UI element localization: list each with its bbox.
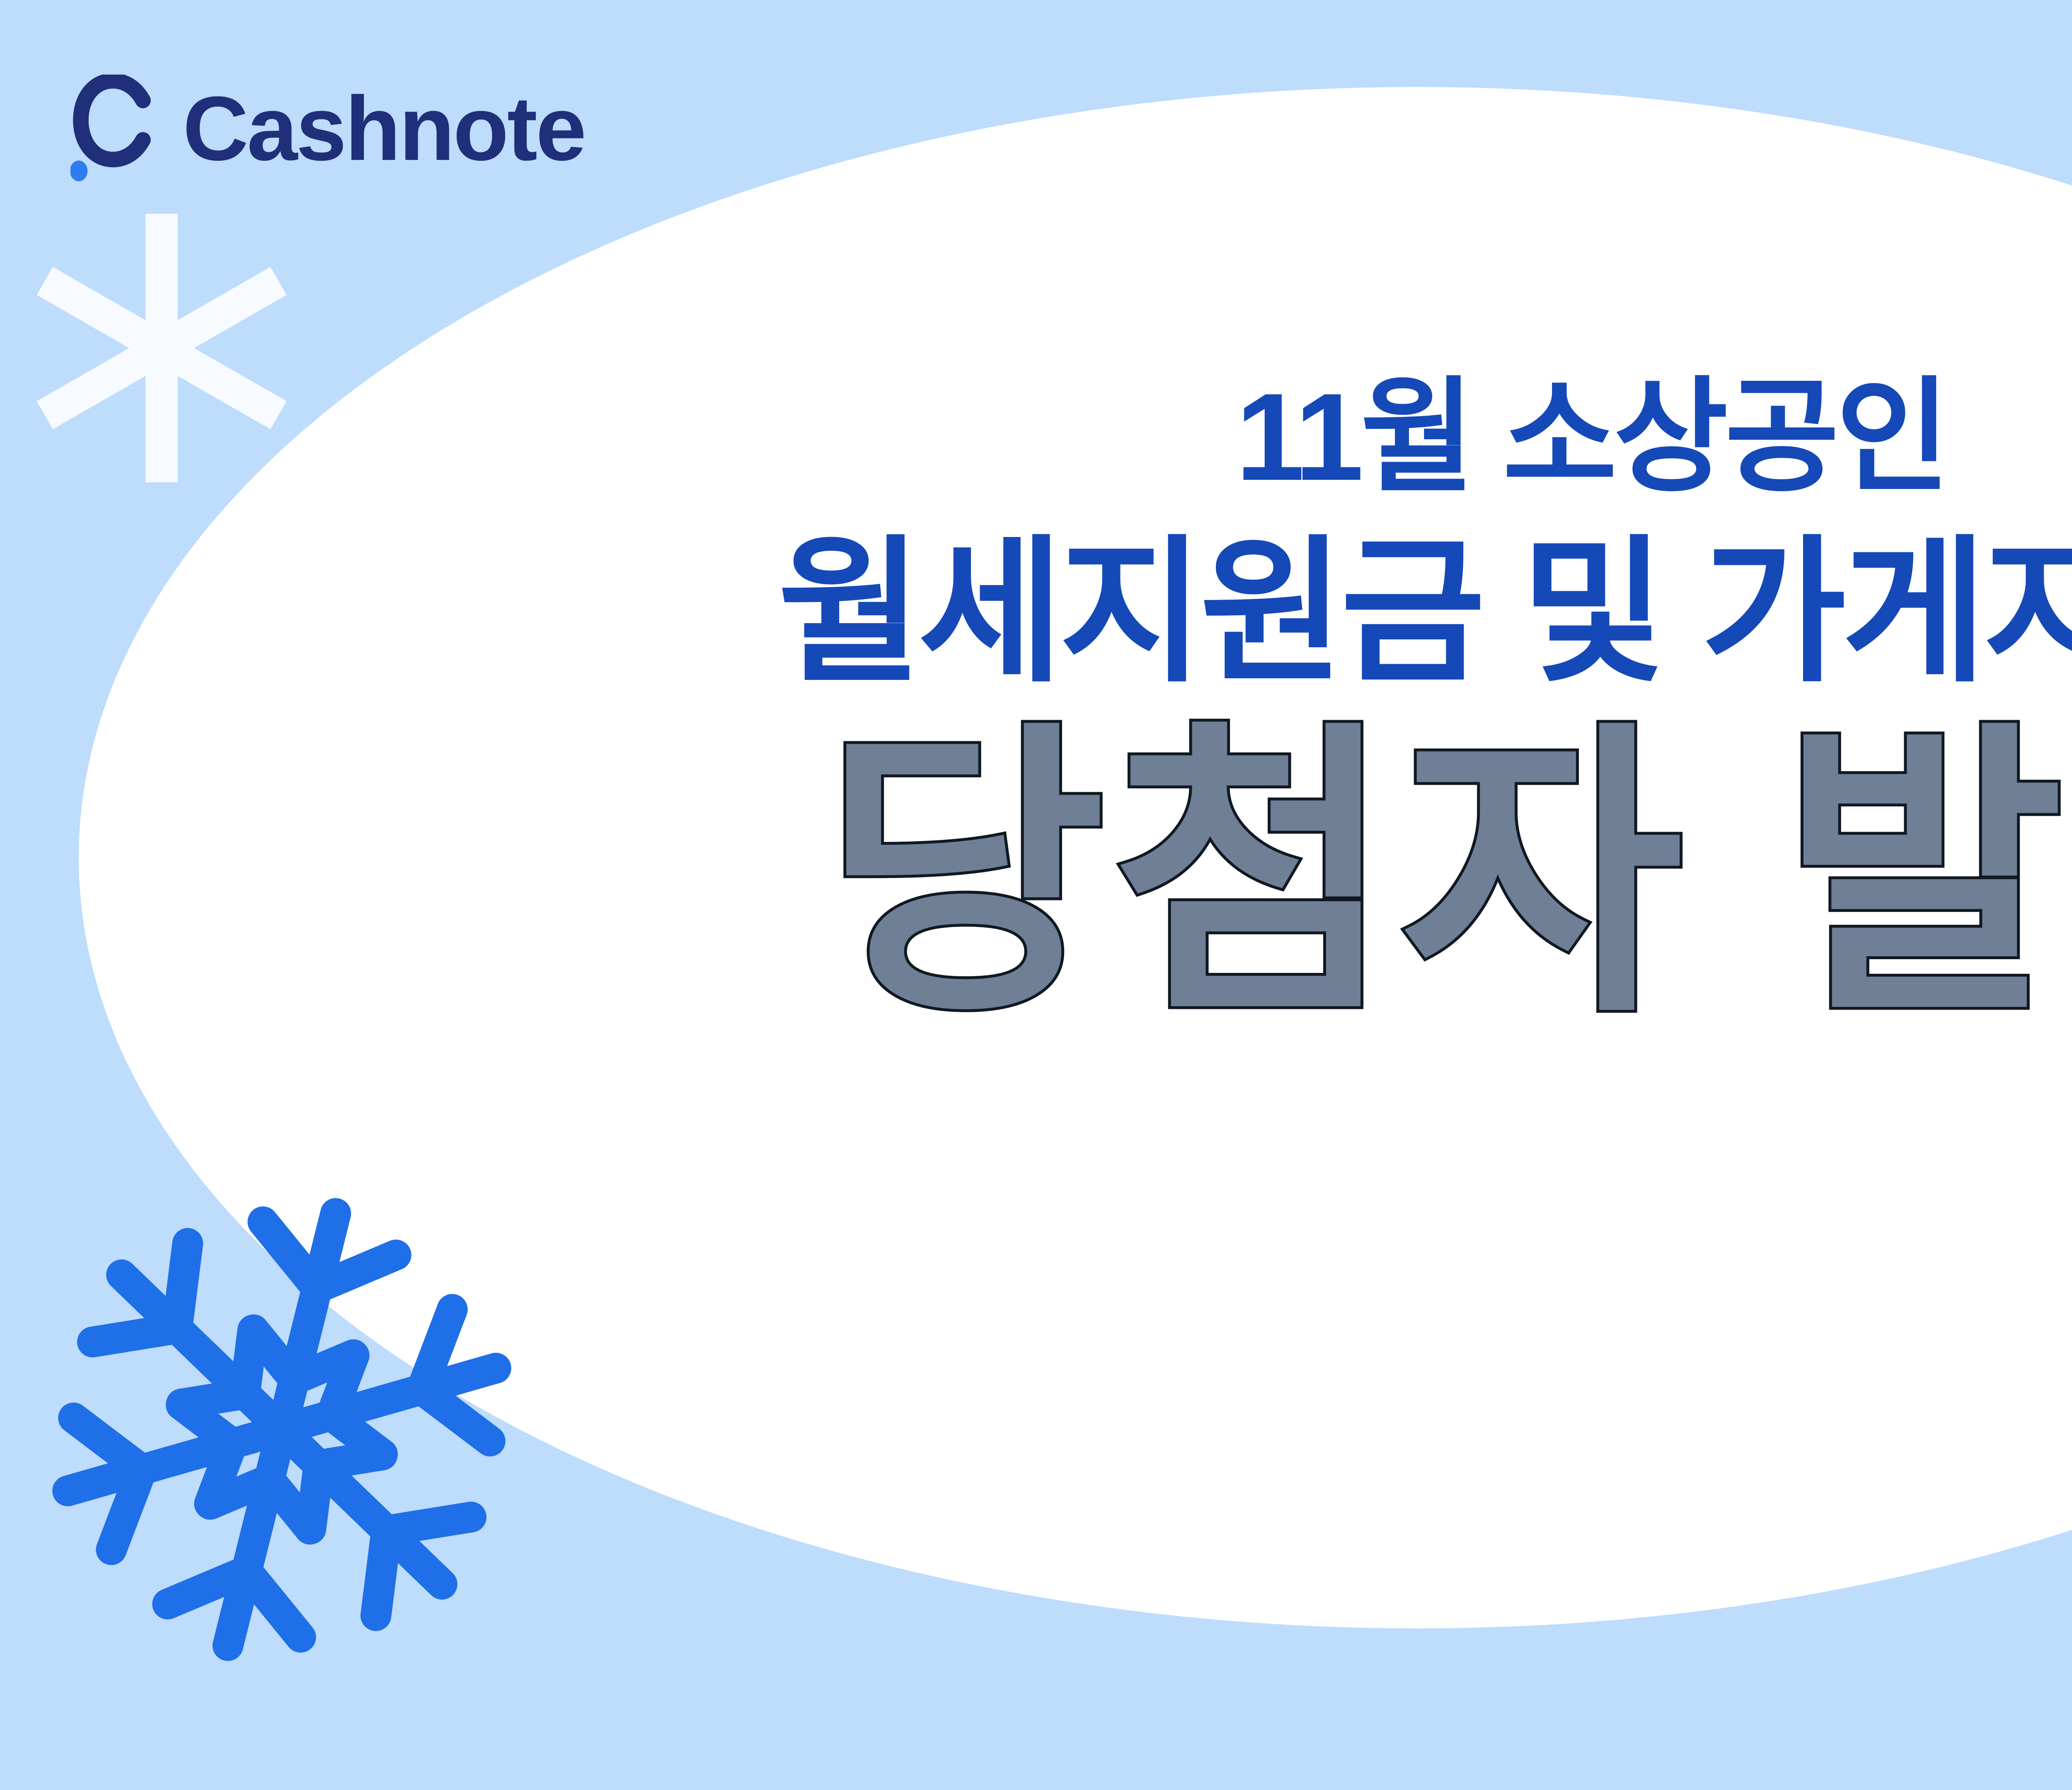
eyebrow-text: 11월 소상공인 [0, 365, 2072, 509]
cashnote-c-icon [70, 75, 160, 182]
snowflake-branched-blue-icon [25, 1173, 539, 1686]
subtitle-text: 월세지원금 및 가게지원금 [0, 520, 2072, 705]
headline-text: 당첨자 발표 [0, 709, 2072, 1040]
promo-banner: Cashnote 11월 소상공인 월세지원금 및 가게지원금 당첨자 발표 [0, 0, 2072, 1790]
announcement-text-block: 11월 소상공인 월세지원금 및 가게지원금 당첨자 발표 [0, 365, 2072, 1041]
brand-logo[interactable]: Cashnote [70, 75, 585, 182]
brand-wordmark: Cashnote [183, 83, 585, 174]
